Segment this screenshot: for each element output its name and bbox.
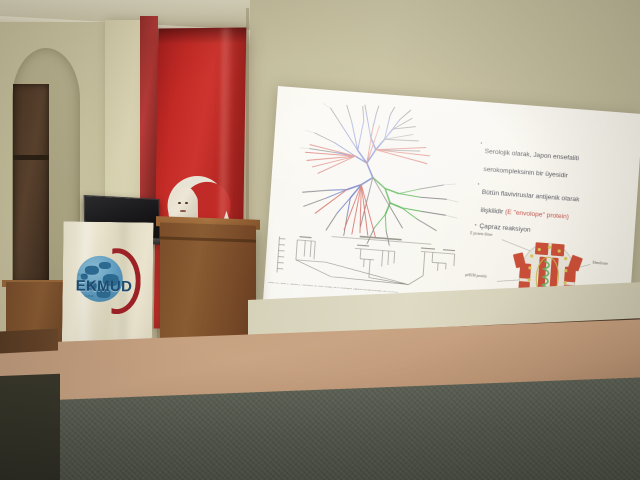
speaker-eye-left bbox=[178, 202, 181, 204]
speaker-eye-right bbox=[185, 202, 188, 204]
flag-top-shadow bbox=[158, 28, 246, 45]
alcove-door[interactable] bbox=[13, 84, 49, 284]
bullet-1-line-1: Serolojik olarak, Japon ensefaliti bbox=[484, 148, 579, 162]
logo-sub-top: Türkiye bbox=[78, 273, 87, 277]
bullet-marker-icon: • bbox=[477, 181, 479, 190]
side-bench bbox=[0, 328, 58, 353]
bullet-marker-icon: • bbox=[480, 140, 482, 149]
ekmud-logo: Türkiye EKMUD Derneği bbox=[74, 248, 141, 315]
bullet-2-line-2: ilişkilidir (E "envolope" protein) bbox=[480, 207, 569, 221]
speaker-mouth bbox=[180, 210, 186, 212]
floor-shadow-left bbox=[0, 374, 60, 480]
bullet-2-line-2-text: ilişkilidir bbox=[480, 207, 505, 216]
bullet-1-line-2: serokompleksinin bir üyesidir bbox=[483, 166, 568, 179]
logo-sub-bottom: Derneği bbox=[84, 295, 93, 298]
logo-wordmark: EKMUD bbox=[76, 278, 133, 296]
speaker-face bbox=[175, 196, 191, 216]
bullet-2-line-1: Bütün flaviviruslar antijenik olarak bbox=[482, 189, 580, 203]
bullet-2-highlight: (E "envolope" protein) bbox=[505, 209, 569, 221]
alcove-door-rail bbox=[13, 155, 49, 160]
photo-scene: Gubler, D.J., Kuno, G., Markoff, L. Flav… bbox=[0, 0, 640, 480]
